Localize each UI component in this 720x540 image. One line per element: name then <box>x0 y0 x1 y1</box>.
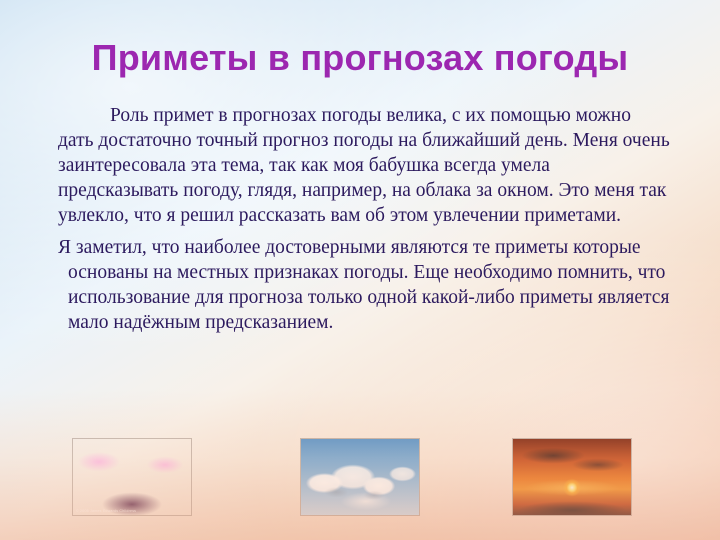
photo-caption: © 2005 James Edwards Childress <box>76 509 136 513</box>
pink-clouds-image: © 2005 James Edwards Childress <box>73 439 191 515</box>
pink-clouds-photo: © 2005 James Edwards Childress <box>72 438 192 516</box>
sunset-photo <box>512 438 632 516</box>
paragraph-2: Я заметил, что наиболее достоверными явл… <box>58 235 670 335</box>
slide-canvas: Приметы в прогнозах погоды Роль примет в… <box>0 0 720 540</box>
slide-body: Роль примет в прогнозах погоды велика, с… <box>58 103 670 335</box>
cumulus-clouds-image <box>301 439 419 515</box>
paragraph-1: Роль примет в прогнозах погоды велика, с… <box>58 103 670 228</box>
page-title: Приметы в прогнозах погоды <box>0 38 720 78</box>
sunset-image <box>513 439 631 515</box>
cumulus-clouds-photo <box>300 438 420 516</box>
image-strip: © 2005 James Edwards Childress <box>0 438 720 518</box>
